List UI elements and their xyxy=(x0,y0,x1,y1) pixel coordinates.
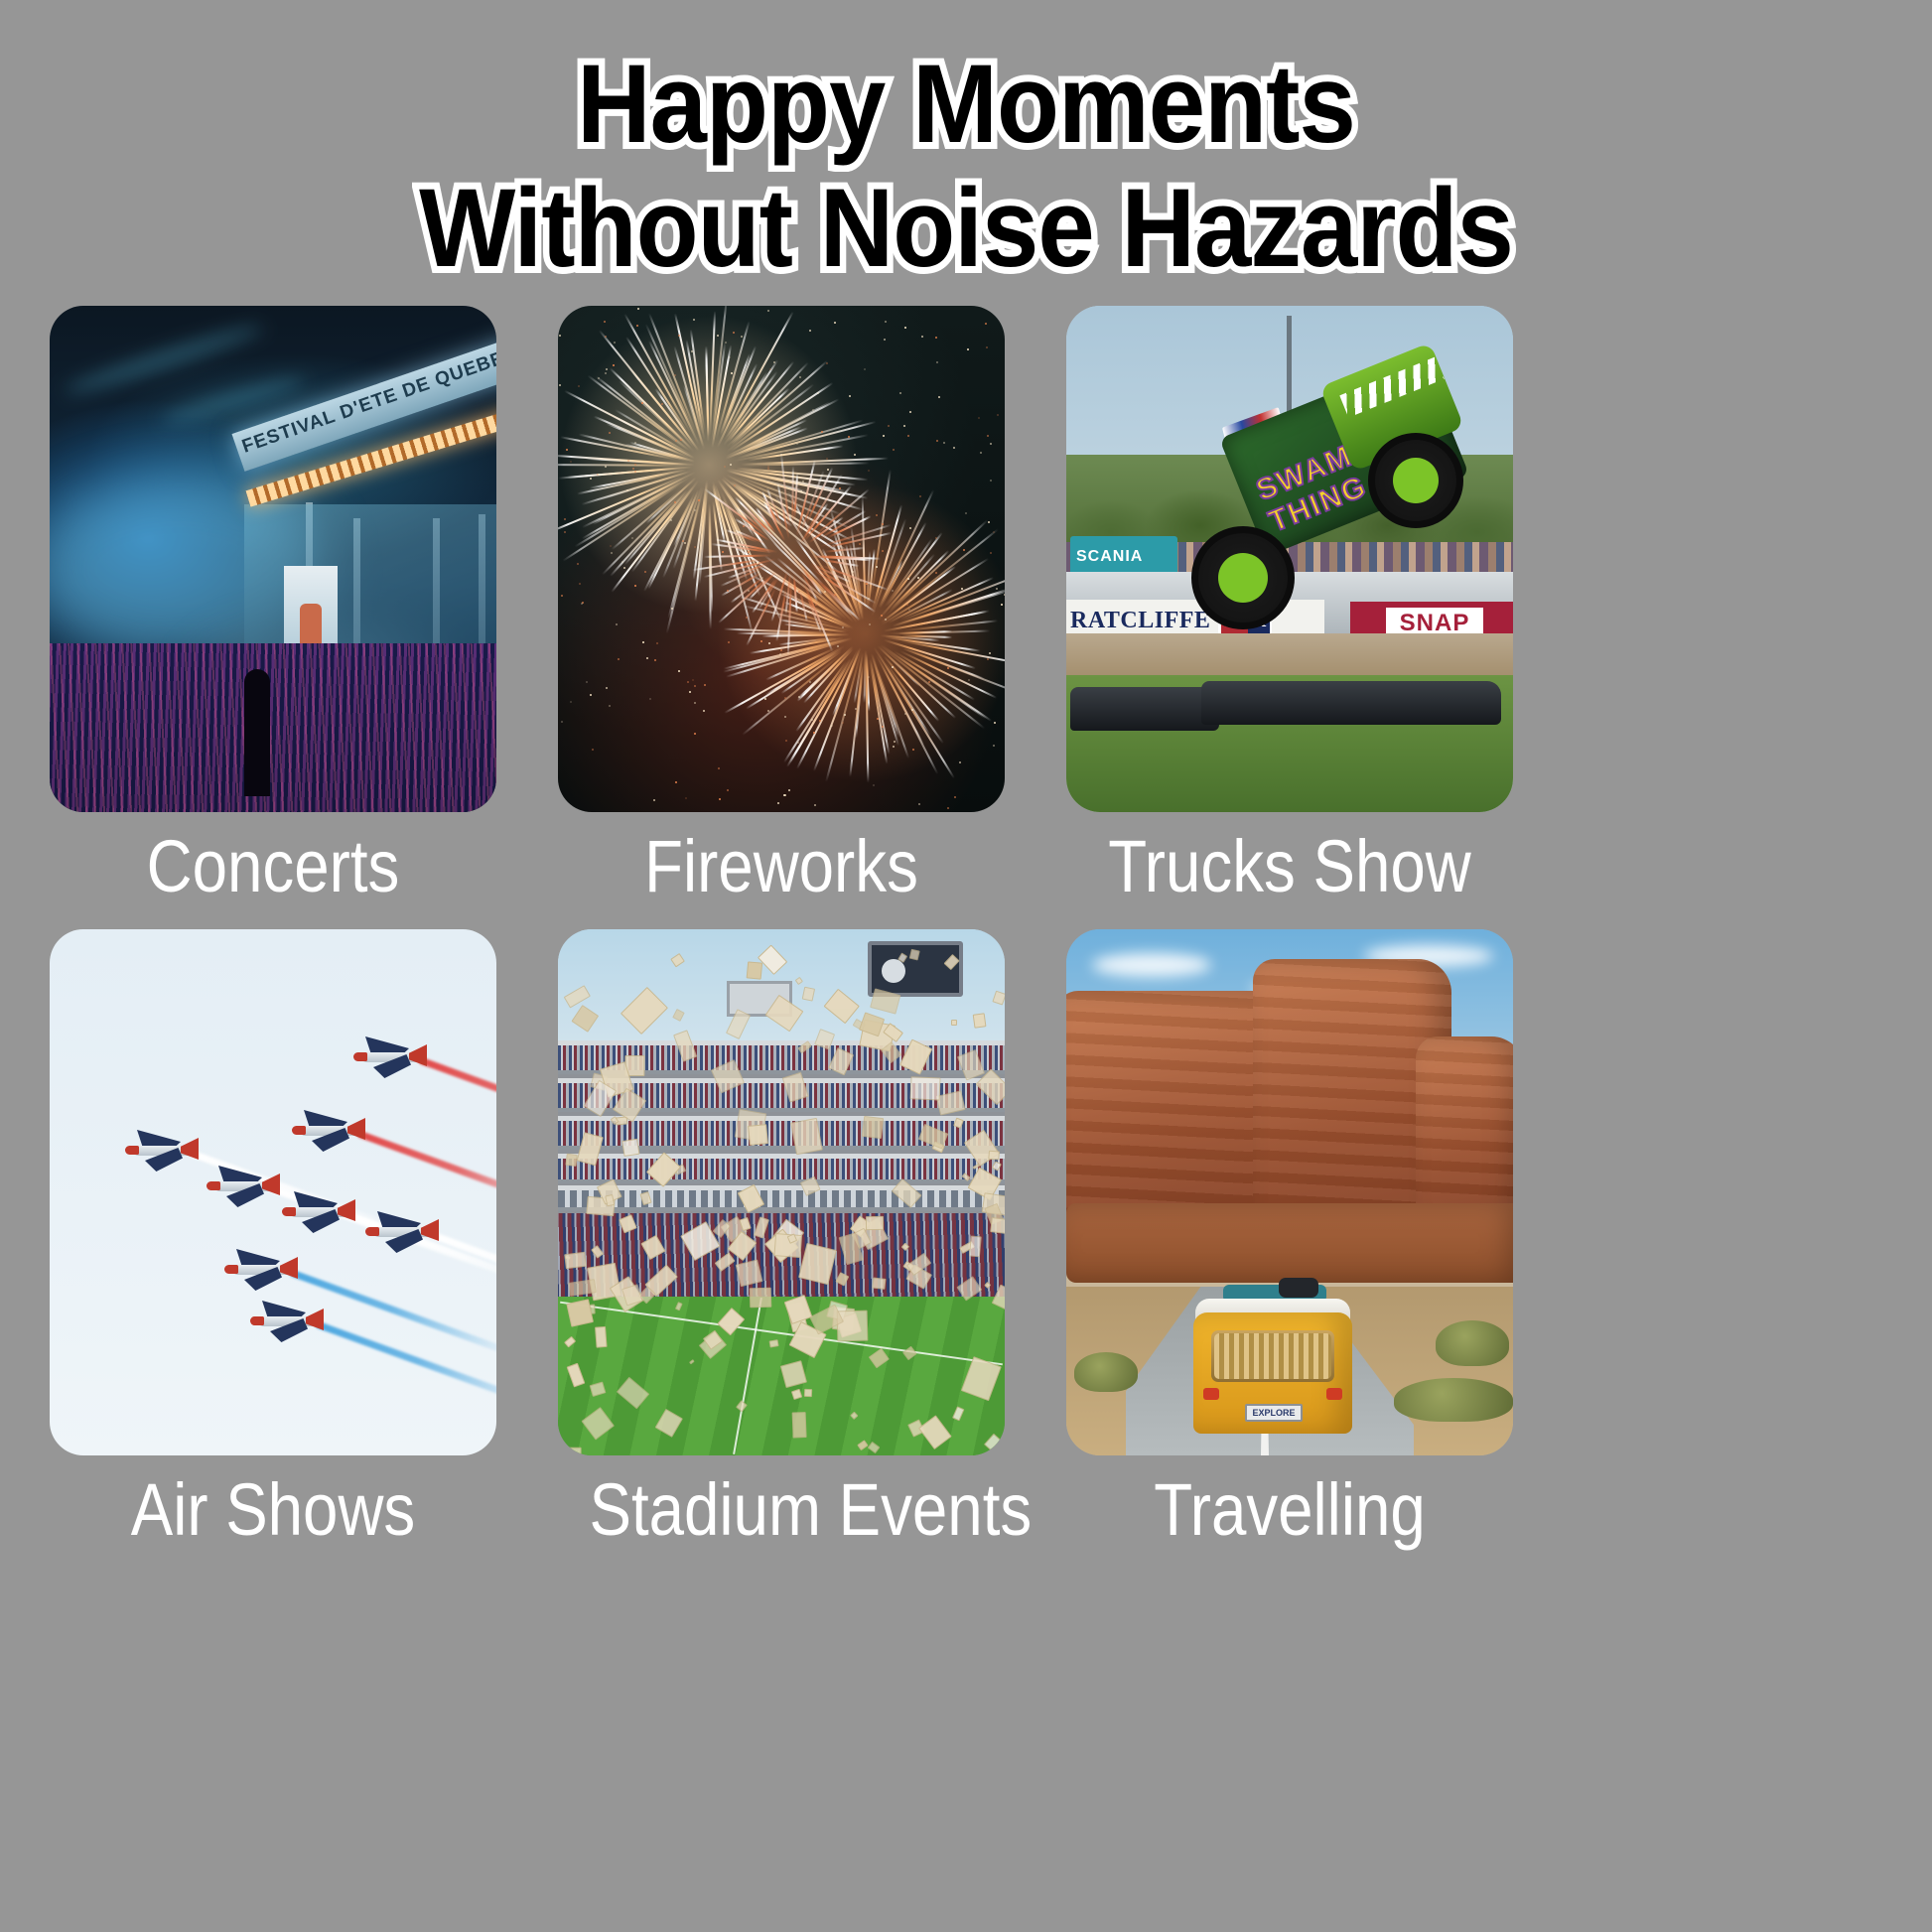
firework-spark xyxy=(621,561,623,563)
firework-spark xyxy=(694,685,696,687)
flying-paper xyxy=(564,1252,587,1269)
flying-paper xyxy=(803,1388,812,1397)
firework-spark xyxy=(904,713,906,715)
firework-spark xyxy=(817,392,819,394)
firework-spark xyxy=(986,346,988,348)
scania-label: SCANIA xyxy=(1076,548,1143,566)
firework-spark xyxy=(634,464,636,466)
firework-spark xyxy=(892,666,894,668)
flying-paper xyxy=(988,1151,999,1161)
firework-spark xyxy=(564,531,566,533)
firework-spark xyxy=(1004,594,1005,596)
caption-fireworks: Fireworks xyxy=(590,812,974,921)
concerts-image: FESTIVAL D'ETE DE QUEBEC xyxy=(50,306,496,812)
firework-spark xyxy=(670,519,672,521)
firework-spark xyxy=(760,640,762,642)
firework-spark xyxy=(961,588,963,590)
firework-spark xyxy=(860,580,862,582)
firework-spark xyxy=(990,480,992,482)
firework-spark xyxy=(876,566,878,568)
firework-spark xyxy=(936,440,938,442)
travelling-image: EXPLORE xyxy=(1066,929,1513,1455)
firework-spark xyxy=(606,687,608,689)
flying-paper xyxy=(969,1235,982,1257)
firework-spark xyxy=(727,789,729,791)
firework-spark xyxy=(868,598,870,600)
firework-spark xyxy=(868,470,870,472)
firework-spark xyxy=(768,507,770,509)
firework-spark xyxy=(894,741,896,743)
firework-spark xyxy=(909,527,911,529)
firework-spark xyxy=(678,335,680,337)
firework-spark xyxy=(814,804,816,806)
firework-spark xyxy=(605,466,607,468)
firework-spark xyxy=(757,562,759,564)
jet-aircraft xyxy=(286,1108,371,1154)
firework-spark xyxy=(864,368,866,370)
caption-air-shows: Air Shows xyxy=(81,1455,466,1565)
firework-spark xyxy=(631,537,633,539)
firework-spark xyxy=(947,807,949,809)
firework-spark xyxy=(959,761,961,763)
firework-spark xyxy=(661,403,663,405)
firework-spark xyxy=(784,794,786,796)
firework-spark xyxy=(604,321,606,323)
caption-trucks-show: Trucks Show xyxy=(1098,812,1482,921)
firework-spark xyxy=(909,411,911,413)
grid-item-concerts[interactable]: FESTIVAL D'ETE DE QUEBEC Concerts xyxy=(50,306,496,921)
flying-paper xyxy=(791,1412,806,1438)
firework-spark xyxy=(674,501,676,503)
stage-truss: FESTIVAL D'ETE DE QUEBEC xyxy=(231,328,496,472)
firework-spark xyxy=(773,361,775,363)
fireworks-image: rays xyxy=(558,306,1005,812)
firework-spark xyxy=(613,364,615,366)
flying-paper xyxy=(595,1326,608,1348)
van-rear-window xyxy=(1211,1330,1334,1382)
jet-aircraft xyxy=(244,1299,330,1344)
firework-spark xyxy=(694,546,696,548)
firework-spark xyxy=(985,323,987,325)
firework-spark xyxy=(798,696,800,698)
firework-spark xyxy=(799,376,801,378)
firework-spark xyxy=(854,454,856,456)
firework-spark xyxy=(837,645,839,647)
firework-spark xyxy=(767,468,769,470)
firework-spark xyxy=(904,327,906,329)
firework-spark xyxy=(906,604,908,606)
firework-spark xyxy=(980,452,982,454)
firework-spark xyxy=(693,319,695,321)
concert-crowd xyxy=(50,643,496,812)
firework-spark xyxy=(680,439,682,441)
jet-aircraft xyxy=(359,1209,445,1255)
firework-spark xyxy=(632,468,634,470)
firework-spark xyxy=(842,626,844,628)
firework-spark xyxy=(793,509,795,511)
firework-spark xyxy=(839,487,841,489)
caption-concerts: Concerts xyxy=(81,812,466,921)
firework-spark xyxy=(912,749,914,751)
firework-spark xyxy=(605,372,607,374)
truck-rear-wheel xyxy=(1191,526,1295,629)
ratcliffe-label: RATCLIFFE xyxy=(1066,608,1210,634)
firework-spark xyxy=(769,368,771,370)
jet-aircraft xyxy=(218,1247,304,1293)
firework-spark xyxy=(935,337,937,339)
flying-paper xyxy=(872,1277,886,1290)
firework-spark xyxy=(800,490,802,492)
firework-spark xyxy=(967,348,969,350)
snap-label: SNAP xyxy=(1400,610,1470,636)
firework-spark xyxy=(646,657,648,659)
caption-travelling: Travelling xyxy=(1098,1455,1482,1565)
title-line-1: Happy Moments xyxy=(77,42,1855,166)
firework-spark xyxy=(852,571,854,573)
firework-spark xyxy=(883,435,885,437)
firework-spark xyxy=(869,623,871,625)
camper-van: EXPLORE xyxy=(1193,1285,1352,1434)
firework-spark xyxy=(623,567,625,569)
firework-spark xyxy=(570,701,572,703)
firework-spark xyxy=(777,802,779,804)
firework-spark xyxy=(1000,810,1002,812)
firework-spark xyxy=(994,722,996,724)
grid-item-stadium-events[interactable]: Stadium Events xyxy=(558,929,1005,1565)
page-title: Happy Moments Without Noise Hazards xyxy=(0,0,1932,291)
firework-spark xyxy=(797,742,799,744)
firework-spark xyxy=(609,432,611,434)
license-plate: EXPLORE xyxy=(1245,1404,1303,1422)
grid-item-fireworks[interactable]: rays Fireworks xyxy=(558,306,1005,921)
flying-paper xyxy=(990,1218,1005,1235)
firework-spark xyxy=(954,796,956,798)
caption-stadium-events: Stadium Events xyxy=(590,1455,974,1565)
firework-spark xyxy=(868,676,870,678)
firework-spark xyxy=(559,795,561,797)
firework-spark xyxy=(654,659,656,661)
firework-spark xyxy=(834,594,836,596)
firework-spark xyxy=(876,514,878,516)
crowd-silhouette xyxy=(244,669,270,796)
trucks-show-image: SCANIA RATCLIFFE MR SNAP SWAMP T xyxy=(1066,306,1513,812)
firework-spark xyxy=(694,702,696,704)
firework-spark xyxy=(684,542,686,544)
firework-spark xyxy=(785,740,787,742)
firework-spark xyxy=(694,733,696,735)
flying-paper xyxy=(748,1124,767,1145)
flying-paper xyxy=(769,1339,779,1347)
flying-paper xyxy=(973,1013,986,1028)
firework-spark xyxy=(649,698,651,700)
firework-spark xyxy=(698,499,700,501)
firework-spark xyxy=(704,684,706,686)
jet-aircraft xyxy=(347,1035,433,1080)
air-shows-image xyxy=(50,929,496,1455)
flying-paper xyxy=(836,1311,867,1341)
firework-spark xyxy=(812,409,814,411)
firework-spark xyxy=(656,642,658,644)
flying-paper xyxy=(951,1020,958,1026)
jet-aircraft xyxy=(119,1128,205,1173)
smoke-trail xyxy=(356,1130,496,1218)
stadium-events-image xyxy=(558,929,1005,1455)
firework-spark xyxy=(877,718,879,720)
firework-spark xyxy=(764,698,766,700)
firework-spark xyxy=(767,466,769,468)
flying-paper xyxy=(747,962,763,981)
flying-paper xyxy=(862,1116,884,1139)
firework-spark xyxy=(866,583,868,585)
firework-spark xyxy=(722,551,724,553)
jet-aircraft xyxy=(276,1189,361,1235)
firework-spark xyxy=(824,591,826,593)
firework-spark xyxy=(570,461,572,463)
flying-paper xyxy=(909,1076,940,1100)
firework-spark xyxy=(819,720,821,722)
firework-spark xyxy=(784,697,786,699)
firework-spark xyxy=(606,368,608,370)
firework-spark xyxy=(968,679,970,681)
firework-spark xyxy=(815,604,817,606)
title-line-2: Without Noise Hazards xyxy=(77,166,1855,290)
grid-item-trucks-show[interactable]: SCANIA RATCLIFFE MR SNAP SWAMP T xyxy=(1066,306,1513,921)
firework-spark xyxy=(590,694,592,696)
firework-spark xyxy=(919,495,921,497)
firework-spark xyxy=(644,571,646,573)
firework-spark xyxy=(618,658,620,660)
firework-spark xyxy=(605,336,607,338)
firework-spark xyxy=(938,396,940,398)
grid-item-travelling[interactable]: EXPLORE Travelling xyxy=(1066,929,1513,1565)
category-grid: FESTIVAL D'ETE DE QUEBEC Concerts xyxy=(50,306,1882,1565)
truck-front-wheel xyxy=(1368,433,1463,528)
firework-spark xyxy=(577,563,579,565)
firework-spark xyxy=(626,489,628,491)
firework-spark xyxy=(1001,604,1003,606)
flying-paper xyxy=(621,1138,639,1156)
firework-spark xyxy=(893,746,895,748)
firework-spark xyxy=(675,781,677,783)
firework-spark xyxy=(687,681,689,683)
firework-spark xyxy=(798,591,800,593)
grid-item-air-shows[interactable]: Air Shows xyxy=(50,929,496,1565)
flying-paper xyxy=(750,1288,771,1308)
flying-paper xyxy=(558,1447,581,1455)
firework-spark xyxy=(935,537,937,539)
jet-aircraft xyxy=(201,1164,286,1209)
firework-spark xyxy=(566,310,568,312)
firework-spark xyxy=(989,652,991,654)
flying-paper xyxy=(866,1215,885,1229)
firework-spark xyxy=(893,449,895,451)
